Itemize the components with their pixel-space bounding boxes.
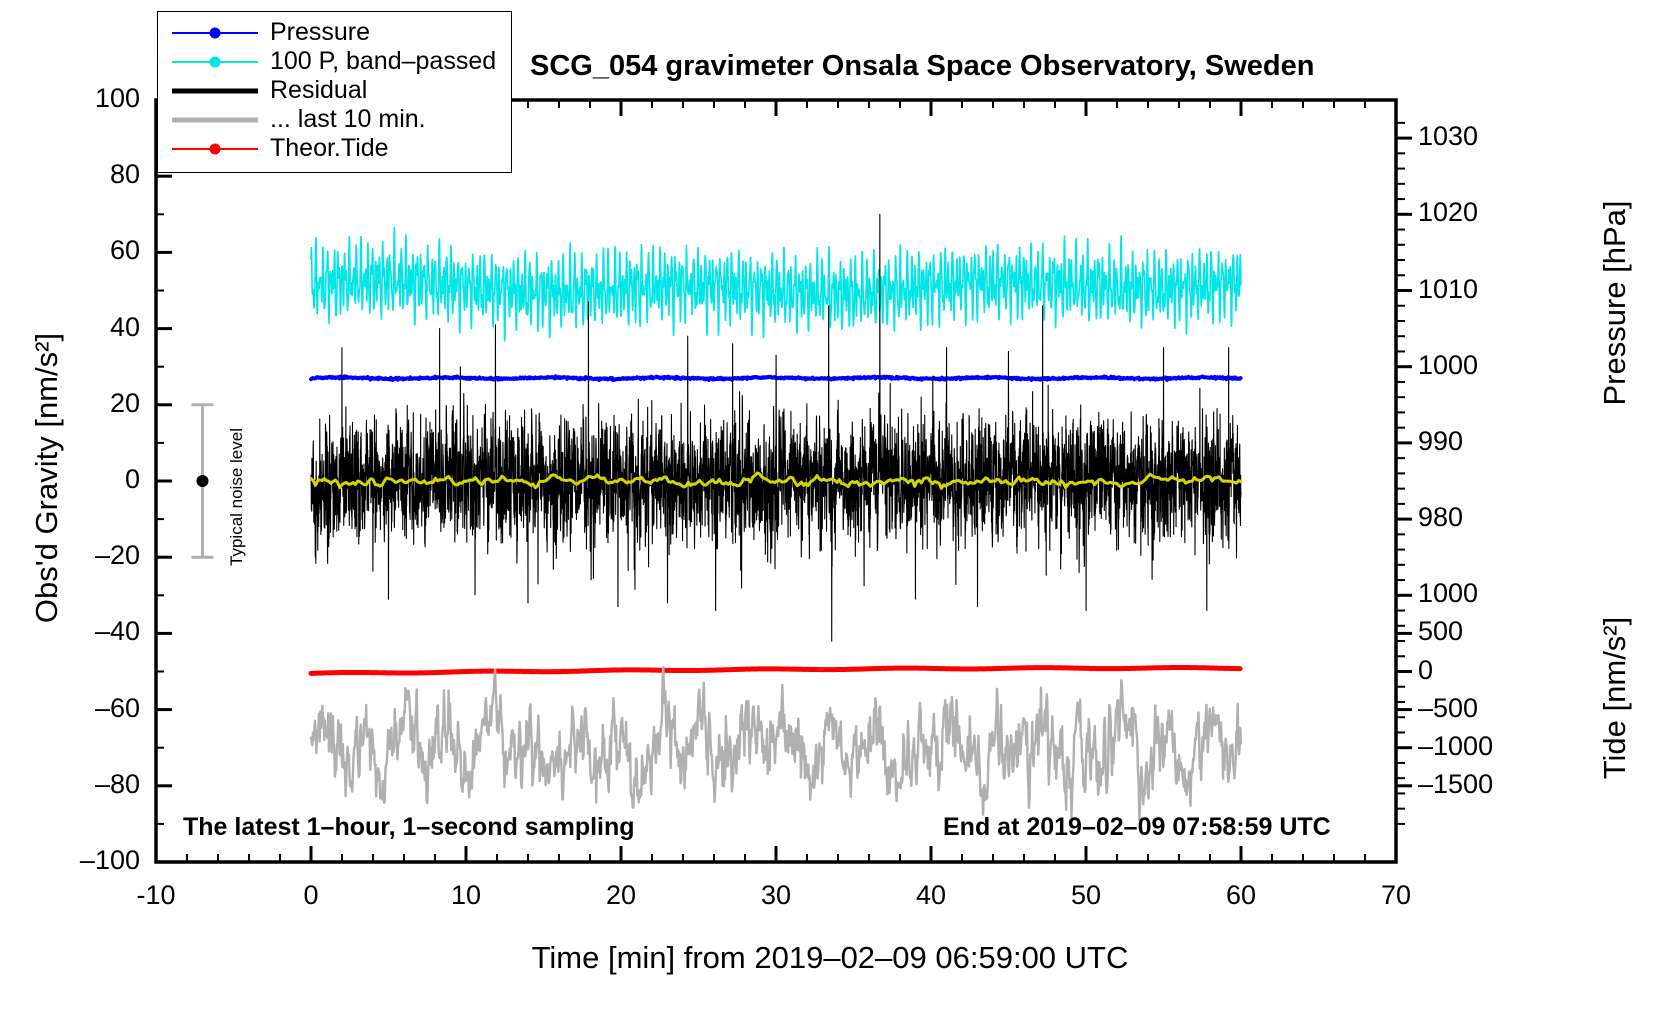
annotation-sampling: The latest 1–hour, 1–second sampling	[183, 813, 635, 842]
legend-swatch-icon	[172, 23, 258, 43]
legend-swatch-icon	[172, 110, 258, 130]
legend-marker-dot	[210, 27, 221, 38]
legend-item-0[interactable]: Pressure	[158, 18, 511, 47]
x-tick-70: 70	[1341, 880, 1451, 911]
plot-title: SCG_054 gravimeter Onsala Space Observat…	[530, 50, 1314, 83]
tide-tick--500: –500	[1418, 693, 1513, 724]
x-tick-50: 50	[1031, 880, 1141, 911]
y-axis-title-tide: Tide [nm/s²]	[1597, 558, 1633, 838]
y-axis-title-pressure: Pressure [hPa]	[1597, 143, 1633, 463]
pressure-tick-980: 980	[1418, 502, 1498, 533]
y-tick-0: 0	[30, 464, 140, 495]
y-tick--40: –40	[30, 616, 140, 647]
x-tick-40: 40	[876, 880, 986, 911]
noise-level-bar	[192, 405, 214, 557]
pressure-tick-1000: 1000	[1418, 350, 1498, 381]
x-tick-10: 10	[411, 880, 521, 911]
legend: Pressure100 P, band–passedResidual... la…	[157, 11, 512, 173]
tide-tick-500: 500	[1418, 616, 1513, 647]
chart-page: Obs'd Gravity [nm/s²] Pressure [hPa] Tid…	[0, 0, 1660, 1020]
legend-label: ... last 10 min.	[270, 105, 426, 134]
legend-label: Theor.Tide	[270, 134, 389, 163]
tide-tick-0: 0	[1418, 655, 1513, 686]
y-tick-60: 60	[30, 235, 140, 266]
x-tick-60: 60	[1186, 880, 1296, 911]
tide-tick-1000: 1000	[1418, 578, 1513, 609]
legend-label: Residual	[270, 76, 367, 105]
x-tick--10: -10	[101, 880, 211, 911]
y-tick--60: –60	[30, 693, 140, 724]
x-axis-title: Time [min] from 2019–02–09 06:59:00 UTC	[330, 940, 1330, 976]
y-tick-80: 80	[30, 159, 140, 190]
legend-item-2[interactable]: Residual	[158, 76, 511, 105]
noise-level-label: Typical noise level	[227, 402, 247, 592]
x-tick-30: 30	[721, 880, 831, 911]
tide-tick--1500: –1500	[1418, 769, 1513, 800]
pressure-tick-1030: 1030	[1418, 121, 1498, 152]
y-tick--80: –80	[30, 769, 140, 800]
y-tick-20: 20	[30, 388, 140, 419]
y-tick--20: –20	[30, 540, 140, 571]
legend-swatch-icon	[172, 81, 258, 101]
legend-marker-dot	[210, 56, 221, 67]
x-tick-0: 0	[256, 880, 366, 911]
legend-swatch-icon	[172, 139, 258, 159]
x-tick-20: 20	[566, 880, 676, 911]
legend-label: Pressure	[270, 18, 370, 47]
data-traces	[311, 214, 1241, 820]
legend-marker-dot	[210, 143, 221, 154]
annotation-end-time: End at 2019–02–09 07:58:59 UTC	[943, 813, 1331, 842]
legend-item-1[interactable]: 100 P, band–passed	[158, 47, 511, 76]
pressure-tick-1010: 1010	[1418, 274, 1498, 305]
legend-item-3[interactable]: ... last 10 min.	[158, 105, 511, 134]
y-tick-100: 100	[30, 83, 140, 114]
legend-swatch-icon	[172, 52, 258, 72]
legend-label: 100 P, band–passed	[270, 47, 496, 76]
tide-tick--1000: –1000	[1418, 731, 1513, 762]
y-tick-40: 40	[30, 312, 140, 343]
legend-item-4[interactable]: Theor.Tide	[158, 134, 511, 163]
y-tick--100: –100	[30, 845, 140, 876]
pressure-tick-1020: 1020	[1418, 197, 1498, 228]
pressure-tick-990: 990	[1418, 426, 1498, 457]
